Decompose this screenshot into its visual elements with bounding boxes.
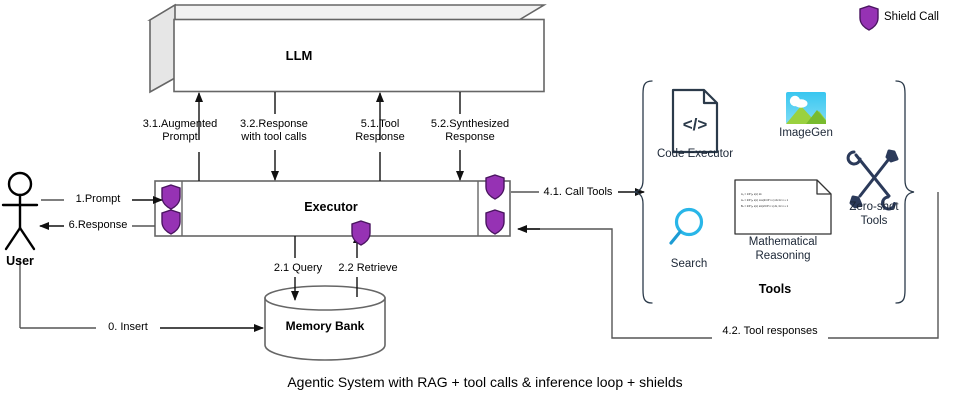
- shield-tools-bottom[interactable]: [484, 209, 506, 235]
- shield-memory-query[interactable]: [350, 220, 372, 246]
- diagram-caption: Agentic System with RAG + tool calls & i…: [85, 376, 885, 389]
- memory-bank-label: Memory Bank: [255, 320, 395, 333]
- edge-label-3-2-response-tool-calls: 3.2.Response with tool calls: [227, 118, 321, 144]
- shield-input-top[interactable]: [160, 184, 182, 210]
- edge-label-5-2-synthesized-response: 5.2.Synthesized Response: [420, 118, 520, 144]
- edge-label-4-1-call-tools: 4.1. Call Tools: [535, 186, 621, 199]
- diagram-canvas: </>: [0, 0, 970, 411]
- tool-label-search: Search: [639, 257, 739, 271]
- tool-label-math-reasoning: Mathematical Reasoning: [733, 235, 833, 263]
- executor-label: Executor: [271, 201, 391, 214]
- tool-label-imagegen: ImageGen: [746, 126, 866, 140]
- edge-label-5-1-tool-response: 5.1.Tool Response: [340, 118, 420, 144]
- math-formula-text: A₀ = 1/P ∫ₚ s(x) dx Aₙ = 2/P ∫ₚ s(x) cos…: [741, 192, 827, 210]
- magnifier-icon[interactable]: [671, 210, 702, 244]
- edge-label-1-prompt: 1.Prompt: [58, 193, 138, 206]
- image-picture-icon[interactable]: [786, 92, 826, 124]
- edge-label-0-insert: 0. Insert: [88, 321, 168, 334]
- math-formula-line-3: Bₙ = 2/P ∫ₚ s(x) sin(2π/P n x) dx, for n…: [741, 204, 827, 210]
- svg-text:</>: </>: [683, 115, 708, 134]
- edge-label-2-2-retrieve: 2.2 Retrieve: [323, 262, 413, 275]
- llm-label: LLM: [239, 49, 359, 62]
- shield-input-bottom[interactable]: [160, 209, 182, 235]
- user-actor[interactable]: [3, 173, 37, 249]
- edge-label-6-response: 6.Response: [53, 219, 143, 232]
- code-file-icon[interactable]: </>: [673, 90, 717, 152]
- shield-tools-top[interactable]: [484, 174, 506, 200]
- shield-legend-icon: [858, 5, 880, 31]
- edge-label-4-2-tool-responses: 4.2. Tool responses: [710, 325, 830, 338]
- tool-label-code-executor: Code Executor: [630, 147, 760, 161]
- legend-shield-call-label: Shield Call: [884, 11, 964, 24]
- tool-label-zero-shot-tools: Zero-shot Tools: [841, 200, 907, 228]
- tools-group-label: Tools: [715, 283, 835, 296]
- edge-label-3-1-augmented-prompt: 3.1.Augmented Prompt: [135, 118, 225, 144]
- user-label: User: [0, 255, 65, 268]
